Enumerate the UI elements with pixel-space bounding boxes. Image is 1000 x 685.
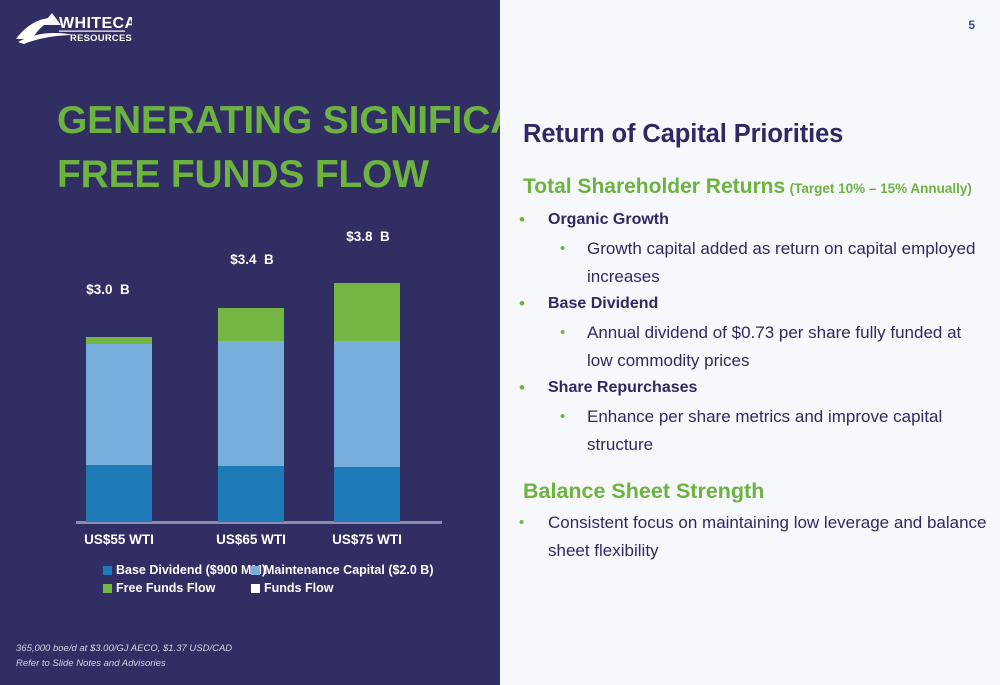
chart-category-label-1: US$65 WTI	[191, 532, 311, 547]
list-item-label-organic-growth: Organic Growth	[548, 207, 669, 233]
legend-item-free-funds-flow: Free Funds Flow	[103, 581, 251, 595]
list-item-organic-growth: • Organic Growth	[515, 207, 1000, 233]
list-item-share-repurchases: • Share Repurchases	[515, 375, 1000, 401]
list-item-balance-sheet: • Consistent focus on maintaining low le…	[515, 509, 1000, 565]
footnote-line-1: Refer to Slide Notes and Advisories	[16, 656, 232, 671]
legend-item-base-dividend: Base Dividend ($900 MM)	[103, 563, 251, 577]
legend-label-funds-flow: Funds Flow	[264, 581, 333, 595]
page-title-line1: GENERATING SIGNIFICANT	[57, 94, 487, 148]
right-panel: 5 Return of Capital Priorities Total Sha…	[500, 0, 1000, 685]
bar-total-label-2: $3.8 B	[313, 229, 423, 244]
tsr-target-text: (Target 10% – 15% Annually)	[790, 181, 972, 196]
tsr-heading-text: Total Shareholder Returns	[523, 175, 785, 198]
bar-total-label-1: $3.4 B	[197, 252, 307, 267]
list-item-label-base-dividend: Base Dividend	[548, 291, 658, 317]
whitecap-resources-logo: WHITECAP RESOURCES INC	[12, 9, 132, 49]
footnote-line-0: 365,000 boe/d at $3.00/GJ AECO, $1.37 US…	[16, 641, 232, 656]
sub-bullet-glyph-icon: •	[515, 319, 587, 375]
bar-segment-maintenance-capital-0	[86, 344, 152, 465]
list-item-label-share-repurchases: Share Repurchases	[548, 375, 697, 401]
left-panel: WHITECAP RESOURCES INC GENERATING SIGNIF…	[0, 0, 500, 685]
bar-group-2	[334, 283, 400, 522]
sub-list-item-organic-growth: • Growth capital added as return on capi…	[515, 235, 1000, 291]
legend-swatch-maintenance-capital	[251, 566, 260, 575]
list-item-text-balance-sheet: Consistent focus on maintaining low leve…	[548, 509, 998, 565]
page-title-line2: FREE FUNDS FLOW	[57, 148, 487, 202]
priorities-list: • Organic Growth • Growth capital added …	[515, 207, 1000, 565]
legend-item-maintenance-capital: Maintenance Capital ($2.0 B)	[251, 563, 423, 577]
free-funds-flow-chart: $3.0 B $3.4 B $3.8 B	[60, 240, 460, 560]
slide-root: WHITECAP RESOURCES INC GENERATING SIGNIF…	[0, 0, 1000, 685]
total-shareholder-returns-heading: Total Shareholder Returns (Target 10% – …	[523, 175, 972, 199]
bar-total-label-0: $3.0 B	[53, 282, 163, 297]
bar-group-1	[218, 308, 284, 522]
sub-bullet-glyph-icon: •	[515, 403, 587, 459]
chart-category-label-0: US$55 WTI	[59, 532, 179, 547]
svg-text:RESOURCES INC: RESOURCES INC	[70, 32, 132, 43]
svg-text:WHITECAP: WHITECAP	[59, 15, 132, 32]
right-panel-title: Return of Capital Priorities	[523, 120, 843, 149]
legend-label-free-funds-flow: Free Funds Flow	[116, 581, 215, 595]
sub-list-item-text-base-dividend: Annual dividend of $0.73 per share fully…	[587, 319, 987, 375]
bullet-glyph-icon: •	[515, 375, 548, 401]
bar-segment-free-funds-flow-0	[86, 337, 152, 344]
legend-swatch-free-funds-flow	[103, 584, 112, 593]
balance-sheet-strength-heading: Balance Sheet Strength	[523, 479, 1000, 504]
legend-swatch-funds-flow	[251, 584, 260, 593]
chart-legend: Base Dividend ($900 MM) Maintenance Capi…	[103, 563, 423, 595]
bar-segment-free-funds-flow-2	[334, 283, 400, 341]
legend-swatch-base-dividend	[103, 566, 112, 575]
legend-label-maintenance-capital: Maintenance Capital ($2.0 B)	[264, 563, 434, 577]
bullet-glyph-icon: •	[515, 509, 548, 565]
page-title: GENERATING SIGNIFICANT FREE FUNDS FLOW	[57, 94, 487, 202]
bar-segment-maintenance-capital-1	[218, 341, 284, 466]
bar-segment-base-dividend-1	[218, 466, 284, 522]
bar-segment-base-dividend-2	[334, 467, 400, 522]
chart-plot-area: $3.0 B $3.4 B $3.8 B	[60, 240, 460, 522]
sub-list-item-share-repurchases: • Enhance per share metrics and improve …	[515, 403, 1000, 459]
bar-segment-free-funds-flow-1	[218, 308, 284, 341]
sub-list-item-text-organic-growth: Growth capital added as return on capita…	[587, 235, 987, 291]
sub-bullet-glyph-icon: •	[515, 235, 587, 291]
list-item-base-dividend: • Base Dividend	[515, 291, 1000, 317]
slide-number: 5	[968, 18, 975, 32]
bullet-glyph-icon: •	[515, 291, 548, 317]
legend-label-base-dividend: Base Dividend ($900 MM)	[116, 563, 266, 577]
slide-footnotes: 365,000 boe/d at $3.00/GJ AECO, $1.37 US…	[16, 641, 232, 671]
bullet-glyph-icon: •	[515, 207, 548, 233]
sub-list-item-base-dividend: • Annual dividend of $0.73 per share ful…	[515, 319, 1000, 375]
bar-segment-base-dividend-0	[86, 465, 152, 522]
bar-group-0	[86, 337, 152, 522]
bar-segment-maintenance-capital-2	[334, 341, 400, 467]
legend-item-funds-flow: Funds Flow	[251, 581, 423, 595]
sub-list-item-text-share-repurchases: Enhance per share metrics and improve ca…	[587, 403, 987, 459]
chart-category-label-2: US$75 WTI	[307, 532, 427, 547]
